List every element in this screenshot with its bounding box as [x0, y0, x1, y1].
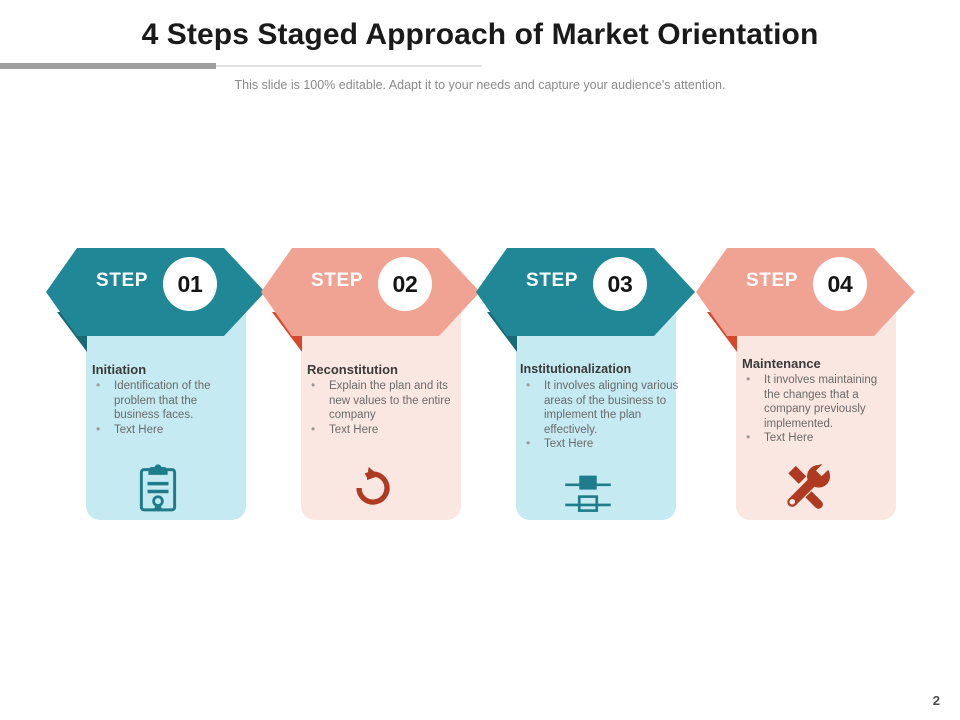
- clipboard-certificate-icon: [130, 460, 186, 516]
- refresh-circular-arrow-icon: [345, 460, 401, 516]
- step-card-01[interactable]: STEP 01 Initiation Identification of the…: [38, 240, 278, 540]
- step-label: STEP: [311, 270, 363, 292]
- step-bullet-list: It involves aligning various areas of th…: [522, 379, 682, 452]
- step-number: 01: [178, 271, 203, 298]
- step-bullet-list: It involves maintaining the changes that…: [742, 373, 894, 446]
- step-card-03[interactable]: STEP 03 Institutionalization It involves…: [468, 240, 708, 540]
- step-bullet-list: Explain the plan and its new values to t…: [307, 379, 455, 437]
- step-heading: Reconstitution: [307, 362, 398, 377]
- step-heading: Institutionalization: [520, 362, 631, 376]
- step-heading: Maintenance: [742, 356, 821, 371]
- step-arrow-banner[interactable]: [261, 248, 480, 336]
- step-arrow-banner[interactable]: [696, 248, 915, 336]
- slide-subtitle: This slide is 100% editable. Adapt it to…: [0, 78, 960, 92]
- step-number-circle: 01: [163, 257, 217, 311]
- step-number: 03: [608, 271, 633, 298]
- hammer-wrench-tools-icon: [780, 458, 836, 514]
- list-item: Explain the plan and its new values to t…: [307, 379, 455, 423]
- title-rule-thin: [216, 65, 482, 67]
- step-number-circle: 04: [813, 257, 867, 311]
- step-number-circle: 03: [593, 257, 647, 311]
- step-card-04[interactable]: STEP 04 Maintenance It involves maintain…: [688, 240, 928, 540]
- step-label: STEP: [96, 270, 148, 292]
- list-item: Text Here: [307, 423, 455, 438]
- page-number: 2: [933, 693, 940, 708]
- step-bullet-list: Identification of the problem that the b…: [92, 379, 240, 437]
- step-arrow-banner[interactable]: [46, 248, 265, 336]
- list-item: Text Here: [742, 431, 894, 446]
- title-rule-thick: [0, 63, 216, 69]
- step-number: 04: [828, 271, 853, 298]
- step-label: STEP: [746, 270, 798, 292]
- list-item: It involves aligning various areas of th…: [522, 379, 682, 437]
- step-card-02[interactable]: STEP 02 Reconstitution Explain the plan …: [253, 240, 493, 540]
- step-label: STEP: [526, 270, 578, 292]
- list-item: Identification of the problem that the b…: [92, 379, 240, 423]
- step-number: 02: [393, 271, 418, 298]
- step-arrow-banner[interactable]: [476, 248, 695, 336]
- step-number-circle: 02: [378, 257, 432, 311]
- list-item: Text Here: [522, 437, 682, 452]
- list-item: It involves maintaining the changes that…: [742, 373, 894, 431]
- step-heading: Initiation: [92, 362, 146, 377]
- process-blocks-icon: [560, 466, 616, 522]
- list-item: Text Here: [92, 423, 240, 438]
- page-title: 4 Steps Staged Approach of Market Orient…: [0, 18, 960, 52]
